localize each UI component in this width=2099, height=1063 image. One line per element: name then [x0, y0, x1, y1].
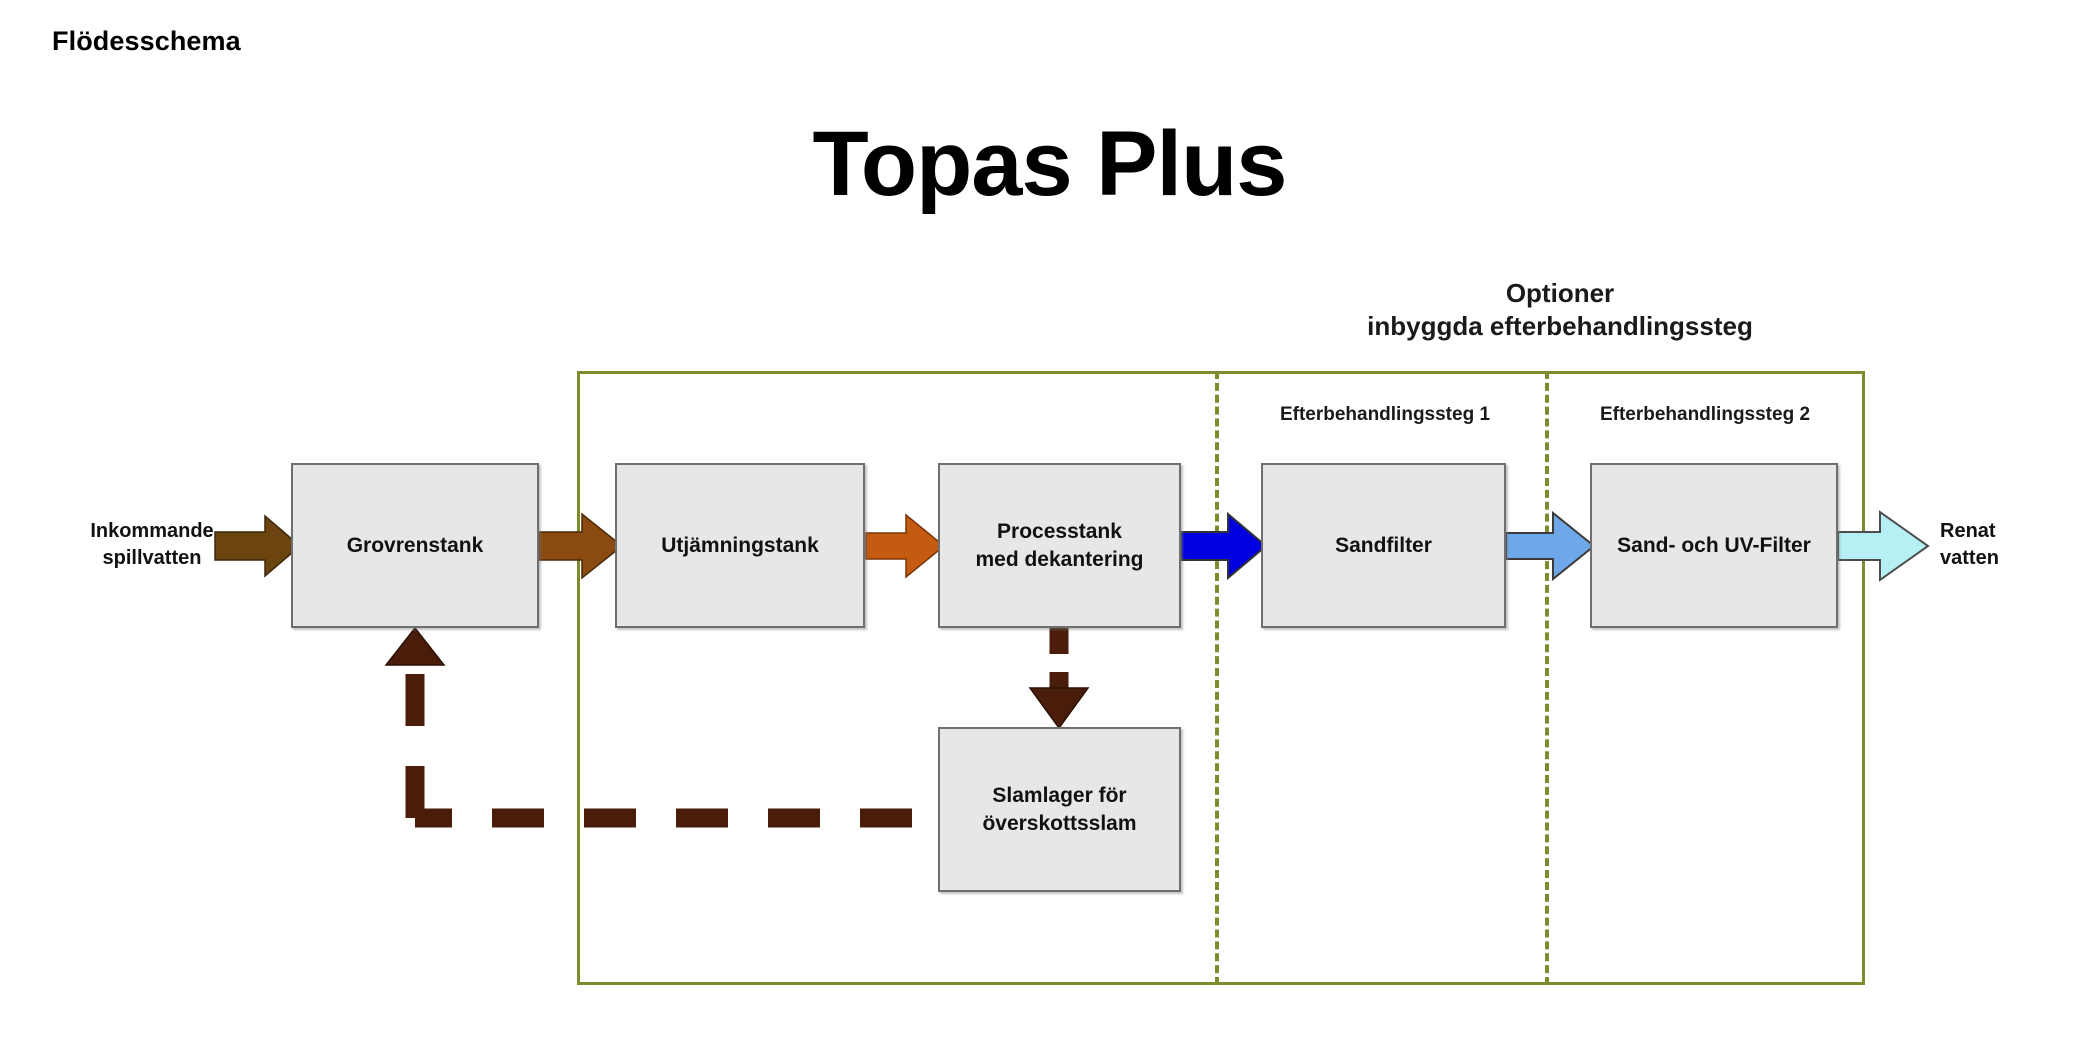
node-processtank-label: Processtank med dekantering — [975, 518, 1143, 573]
flow-diagram-canvas: Flödesschema Topas Plus Optioner inbyggd… — [0, 0, 2099, 1063]
output-flow-label: Renat vatten — [1940, 518, 2080, 572]
node-utjamningstank-label: Utjämningstank — [661, 532, 819, 559]
node-slamlager-label-line2: överskottsslam — [982, 812, 1136, 835]
stage-divider-1 — [1215, 371, 1219, 985]
product-title: Topas Plus — [0, 118, 2099, 210]
node-sandfilter-label: Sandfilter — [1335, 532, 1432, 559]
input-flow-label-line2: spillvatten — [103, 547, 202, 569]
input-flow-label: Inkommande spillvatten — [52, 518, 252, 572]
node-sandfilter[interactable]: Sandfilter — [1261, 463, 1506, 628]
node-sand-och-uv-filter[interactable]: Sand- och UV-Filter — [1590, 463, 1838, 628]
output-flow-label-line1: Renat — [1940, 520, 1996, 542]
node-utjamningstank[interactable]: Utjämningstank — [615, 463, 865, 628]
input-flow-label-line1: Inkommande — [90, 520, 213, 542]
options-heading-line1: Optioner — [1506, 278, 1614, 308]
stage-divider-2 — [1545, 371, 1549, 985]
node-processtank[interactable]: Processtank med dekantering — [938, 463, 1181, 628]
node-slamlager-label: Slamlager för överskottsslam — [982, 782, 1136, 837]
output-flow-label-line2: vatten — [1940, 547, 1999, 569]
page-title: Flödesschema — [52, 26, 241, 57]
node-slamlager[interactable]: Slamlager för överskottsslam — [938, 727, 1181, 892]
options-heading: Optioner inbyggda efterbehandlingssteg — [1190, 277, 1930, 344]
node-slamlager-label-line1: Slamlager för — [992, 784, 1126, 807]
node-processtank-label-line2: med dekantering — [975, 548, 1143, 571]
node-sand-och-uv-filter-label: Sand- och UV-Filter — [1617, 532, 1811, 559]
node-grovrenstank[interactable]: Grovrenstank — [291, 463, 539, 628]
node-processtank-label-line1: Processtank — [997, 520, 1122, 543]
node-grovrenstank-label: Grovrenstank — [347, 532, 484, 559]
options-heading-line2: inbyggda efterbehandlingssteg — [1190, 310, 1930, 343]
